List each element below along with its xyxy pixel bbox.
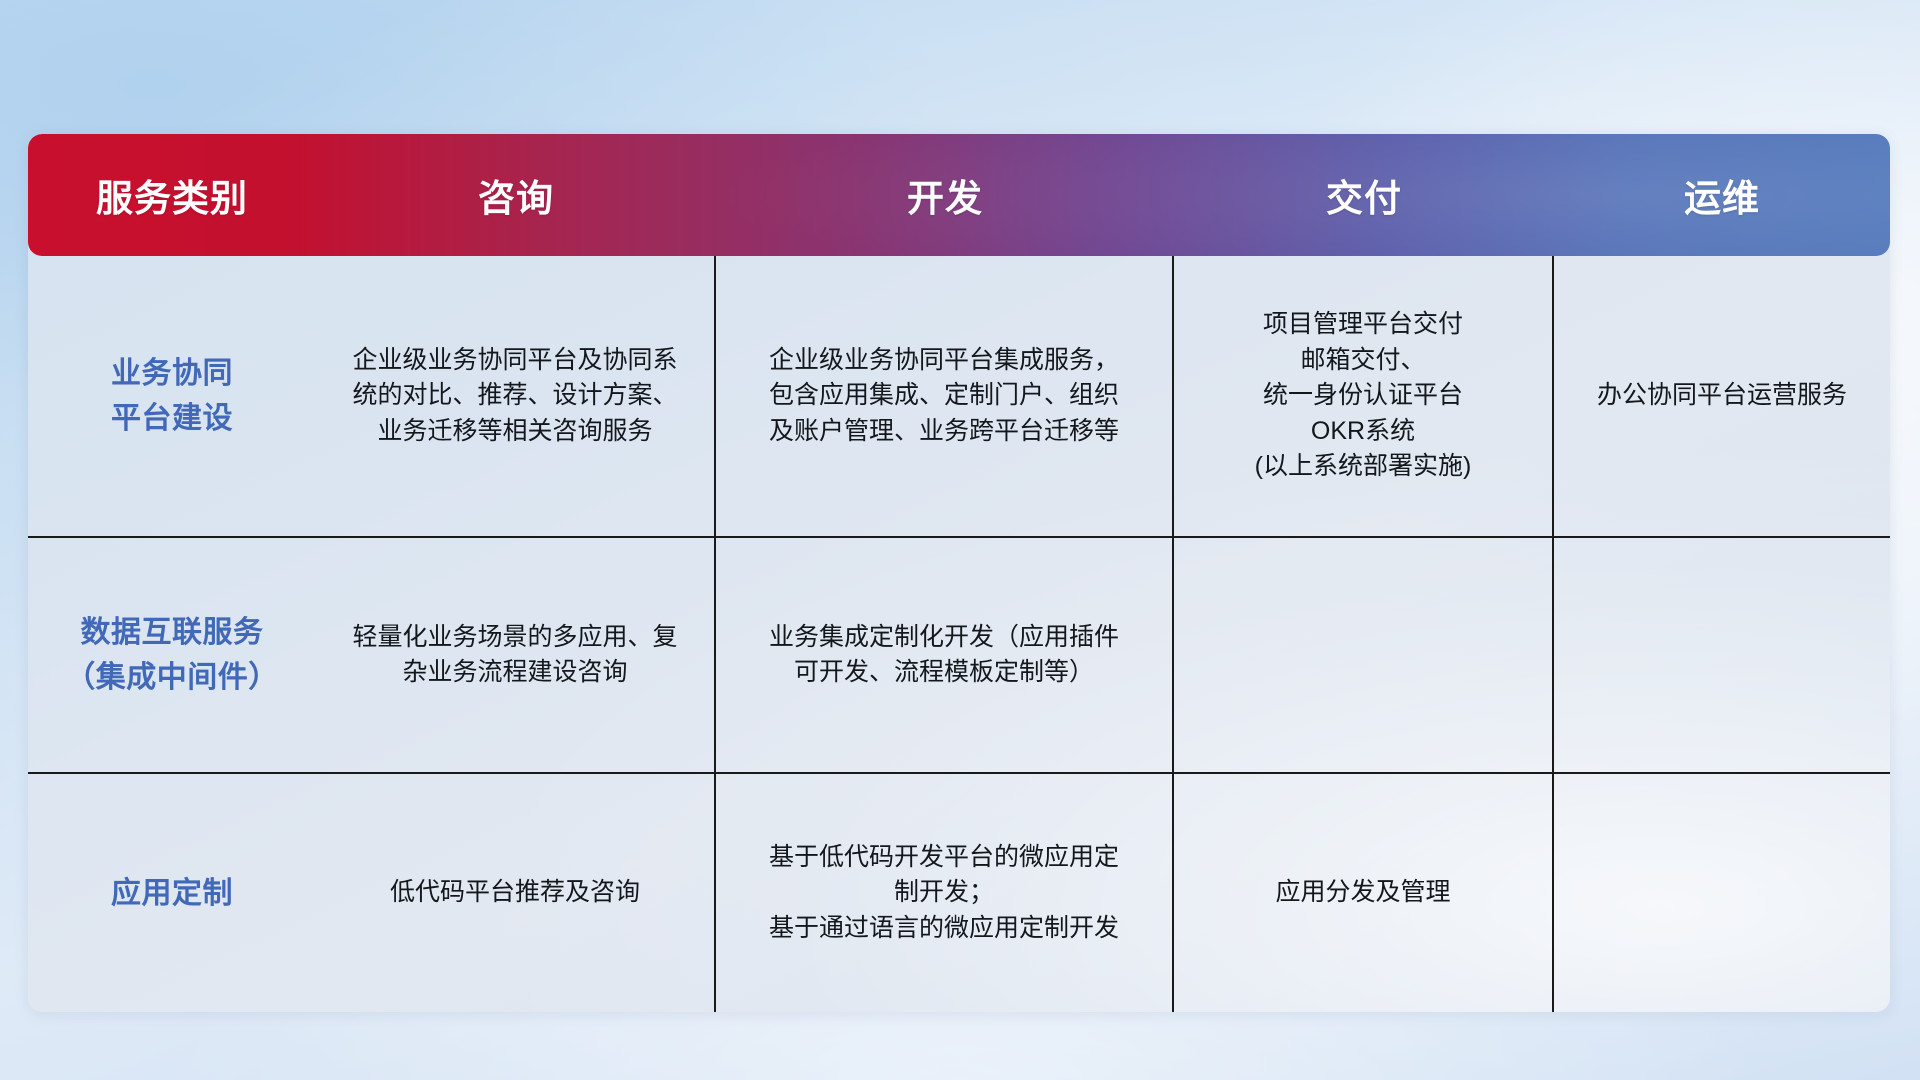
cell-development-2: 基于低代码开发平台的微应用定 制开发； 基于通过语言的微应用定制开发 (716, 774, 1174, 1012)
cell-consulting-0: 企业级业务协同平台及协同系 统的对比、推荐、设计方案、 业务迁移等相关咨询服务 (316, 256, 716, 536)
cell-operations-0: 办公协同平台运营服务 (1554, 256, 1890, 536)
column-header-development: 开发 (716, 168, 1174, 222)
column-header-category: 服务类别 (28, 168, 316, 222)
cell-delivery-0: 项目管理平台交付 邮箱交付、 统一身份认证平台 OKR系统 (以上系统部署实施) (1174, 256, 1554, 536)
cell-category-2: 应用定制 (28, 774, 316, 1012)
service-matrix-table: 服务类别 咨询 开发 交付 运维 业务协同 平台建设 企业级业务协同平台及协同系… (28, 134, 1890, 1012)
table-row: 应用定制 低代码平台推荐及咨询 基于低代码开发平台的微应用定 制开发； 基于通过… (28, 772, 1890, 1012)
table-row: 业务协同 平台建设 企业级业务协同平台及协同系 统的对比、推荐、设计方案、 业务… (28, 256, 1890, 536)
cell-category-0: 业务协同 平台建设 (28, 256, 316, 536)
cell-delivery-1 (1174, 538, 1554, 772)
cell-delivery-2: 应用分发及管理 (1174, 774, 1554, 1012)
cell-operations-2 (1554, 774, 1890, 1012)
cell-category-1: 数据互联服务 （集成中间件） (28, 538, 316, 772)
cell-consulting-1: 轻量化业务场景的多应用、复 杂业务流程建设咨询 (316, 538, 716, 772)
cell-consulting-2: 低代码平台推荐及咨询 (316, 774, 716, 1012)
column-header-delivery: 交付 (1174, 168, 1554, 222)
cell-development-0: 企业级业务协同平台集成服务， 包含应用集成、定制门户、组织 及账户管理、业务跨平… (716, 256, 1174, 536)
column-header-operations: 运维 (1554, 168, 1890, 222)
cell-operations-1 (1554, 538, 1890, 772)
cell-development-1: 业务集成定制化开发（应用插件 可开发、流程模板定制等） (716, 538, 1174, 772)
table-row: 数据互联服务 （集成中间件） 轻量化业务场景的多应用、复 杂业务流程建设咨询 业… (28, 536, 1890, 772)
column-header-consulting: 咨询 (316, 168, 716, 222)
table-body: 业务协同 平台建设 企业级业务协同平台及协同系 统的对比、推荐、设计方案、 业务… (28, 256, 1890, 1012)
table-header-row: 服务类别 咨询 开发 交付 运维 (28, 134, 1890, 256)
